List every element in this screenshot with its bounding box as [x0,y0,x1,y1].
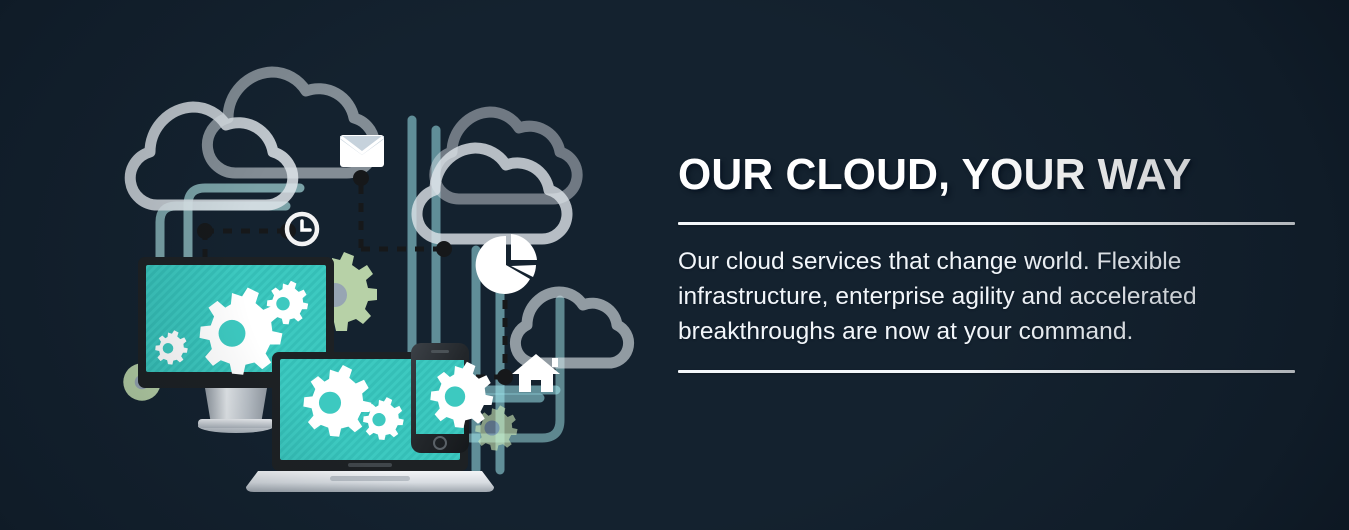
description-line-1: Our cloud services that change world. Fl… [678,244,1303,279]
banner-text-panel: OUR CLOUD, YOUR WAY Our cloud services t… [678,152,1298,373]
description-line-3: breakthroughs are now at your command. [678,314,1303,349]
divider-top [678,222,1295,225]
description-line-2: infrastructure, enterprise agility and a… [678,279,1303,314]
cloud-illustration [0,0,660,530]
divider-bottom [678,370,1295,373]
envelope-icon [340,135,384,167]
page-title: OUR CLOUD, YOUR WAY [678,152,1279,198]
cloud-lower-right [515,292,628,363]
hero-banner: OUR CLOUD, YOUR WAY Our cloud services t… [0,0,1349,530]
banner-description: Our cloud services that change world. Fl… [678,244,1303,349]
